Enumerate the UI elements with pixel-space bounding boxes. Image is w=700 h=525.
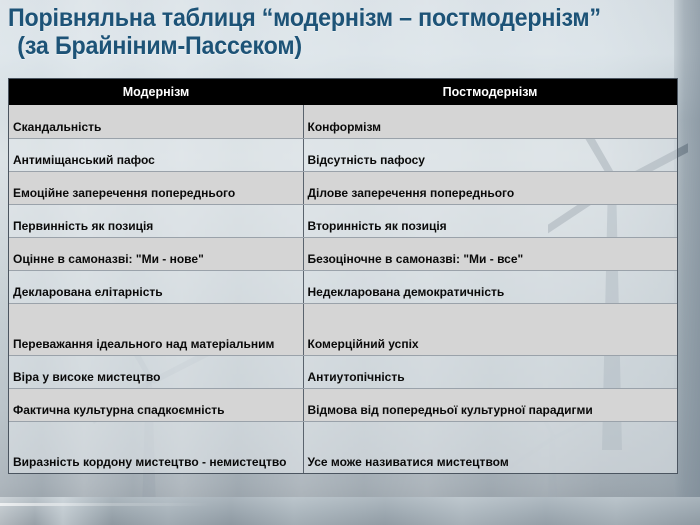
cell-modernism: Виразність кордону мистецтво - немистецт… — [9, 421, 303, 473]
comparison-table: Модернізм Постмодернізм СкандальністьКон… — [9, 79, 677, 473]
cell-text: Оцінне в самоназві: "Ми - нове" — [13, 252, 303, 267]
title-line-1: Порівняльна таблиця “модернізм – постмод… — [8, 4, 644, 32]
cell-text: Недекларована демократичність — [308, 285, 678, 300]
cell-text: Відмова від попередньої культурної парад… — [308, 403, 678, 418]
cell-modernism: Фактична культурна спадкоємність — [9, 388, 303, 421]
cell-text: Фактична культурна спадкоємність — [13, 403, 303, 418]
cell-modernism: Скандальність — [9, 105, 303, 138]
cell-modernism: Емоційне заперечення попереднього — [9, 171, 303, 204]
bottom-photo-strip — [0, 497, 700, 525]
cell-text: Вторинність як позиція — [308, 219, 678, 234]
cell-modernism: Переважання ідеального над матеріальним — [9, 303, 303, 355]
cell-text: Первинність як позиція — [13, 219, 303, 234]
comparison-table-container: Модернізм Постмодернізм СкандальністьКон… — [8, 78, 678, 474]
cell-postmodernism: Конформізм — [303, 105, 677, 138]
cell-text: Віра у високе мистецтво — [13, 370, 303, 385]
table-header: Модернізм Постмодернізм — [9, 79, 677, 105]
table-row: Антиміщанський пафосВідсутність пафосу — [9, 138, 677, 171]
cell-text: Конформізм — [308, 120, 678, 135]
cell-text: Скандальність — [13, 120, 303, 135]
table-row: Декларована елітарністьНедекларована дем… — [9, 270, 677, 303]
table-row: Емоційне заперечення попередньогоДілове … — [9, 171, 677, 204]
cell-postmodernism: Антиутопічність — [303, 355, 677, 388]
cell-text: Комерційний успіх — [308, 337, 678, 352]
table-row: Переважання ідеального над матеріальнимК… — [9, 303, 677, 355]
cell-modernism: Первинність як позиція — [9, 204, 303, 237]
cell-postmodernism: Усе може називатися мистецтвом — [303, 421, 677, 473]
cell-text: Відсутність пафосу — [308, 153, 678, 168]
cell-postmodernism: Відсутність пафосу — [303, 138, 677, 171]
column-header-modernism: Модернізм — [9, 79, 303, 105]
cell-postmodernism: Відмова від попередньої культурної парад… — [303, 388, 677, 421]
cell-text: Переважання ідеального над матеріальним — [13, 337, 303, 352]
cell-text: Антиміщанський пафос — [13, 153, 303, 168]
cell-postmodernism: Безоціночне в самоназві: "Ми - все" — [303, 237, 677, 270]
cell-text: Антиутопічність — [308, 370, 678, 385]
cell-modernism: Декларована елітарність — [9, 270, 303, 303]
table-row: Оцінне в самоназві: "Ми - нове"Безоціноч… — [9, 237, 677, 270]
cell-modernism: Віра у високе мистецтво — [9, 355, 303, 388]
cell-postmodernism: Ділове заперечення попереднього — [303, 171, 677, 204]
table-body: СкандальністьКонформізмАнтиміщанський па… — [9, 105, 677, 473]
cell-text: Усе може називатися мистецтвом — [308, 455, 678, 470]
slide-title: Порівняльна таблиця “модернізм – постмод… — [8, 4, 692, 60]
cell-text: Декларована елітарність — [13, 285, 303, 300]
cell-postmodernism: Недекларована демократичність — [303, 270, 677, 303]
title-line-2: (за Брайніним-Пассеком) — [8, 32, 644, 60]
cell-postmodernism: Комерційний успіх — [303, 303, 677, 355]
slide-canvas: Порівняльна таблиця “модернізм – постмод… — [0, 0, 700, 525]
table-header-row: Модернізм Постмодернізм — [9, 79, 677, 105]
table-row: СкандальністьКонформізм — [9, 105, 677, 138]
table-row: Виразність кордону мистецтво - немистецт… — [9, 421, 677, 473]
cell-text: Виразність кордону мистецтво - немистецт… — [13, 455, 303, 470]
cell-modernism: Антиміщанський пафос — [9, 138, 303, 171]
cell-postmodernism: Вторинність як позиція — [303, 204, 677, 237]
cell-text: Безоціночне в самоназві: "Ми - все" — [308, 252, 678, 267]
cell-modernism: Оцінне в самоназві: "Ми - нове" — [9, 237, 303, 270]
column-header-postmodernism: Постмодернізм — [303, 79, 677, 105]
table-row: Фактична культурна спадкоємністьВідмова … — [9, 388, 677, 421]
table-row: Віра у високе мистецтвоАнтиутопічність — [9, 355, 677, 388]
cell-text: Ділове заперечення попереднього — [308, 186, 678, 201]
cell-text: Емоційне заперечення попереднього — [13, 186, 303, 201]
table-row: Первинність як позиціяВторинність як поз… — [9, 204, 677, 237]
